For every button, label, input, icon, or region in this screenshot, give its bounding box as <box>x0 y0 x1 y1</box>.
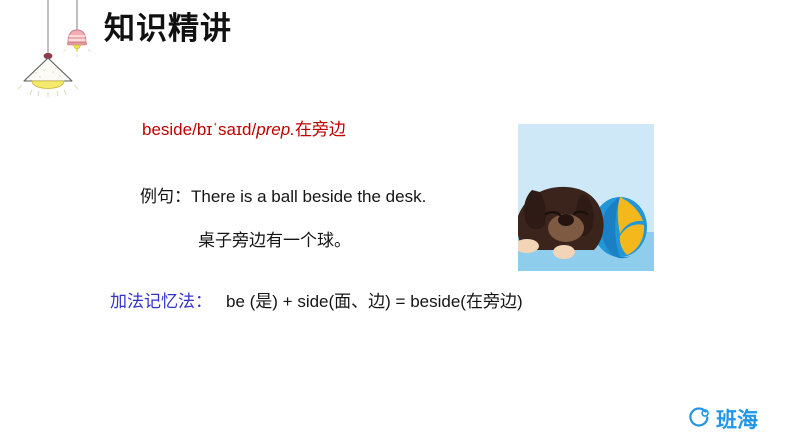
pendant-lamps-decoration <box>8 0 118 100</box>
memory-method-formula: be (是) + side(面、边) = beside(在旁边) <box>226 292 523 311</box>
word-headword: beside <box>142 120 192 139</box>
word-phonetic: /bɪˈsaɪd/ <box>192 120 256 139</box>
pendant-cone-lamp-icon <box>18 53 78 97</box>
example-label: 例句： <box>140 187 191 206</box>
example-sentence-en: 例句：There is a ball beside the desk. <box>140 186 426 208</box>
word-part-of-speech: prep. <box>256 120 295 139</box>
banhai-circle-icon <box>689 407 711 434</box>
dog-icon <box>518 187 604 259</box>
example-english-text: There is a ball beside the desk. <box>191 187 426 206</box>
pendant-bell-lamp-icon <box>64 30 91 57</box>
word-entry: beside/bɪˈsaɪd/prep.在旁边 <box>142 119 346 141</box>
slide-canvas: 知识精讲 beside/bɪˈsaɪd/prep.在旁边 例句：There is… <box>0 0 794 447</box>
page-title: 知识精讲 <box>104 10 232 49</box>
lamps-svg <box>8 0 118 100</box>
banhai-logo: 班海 <box>689 407 758 434</box>
example-sentence-cn: 桌子旁边有一个球。 <box>198 230 351 252</box>
word-meaning: 在旁边 <box>295 120 346 139</box>
memory-method-label: 加法记忆法： <box>110 292 212 311</box>
memory-method-row: 加法记忆法：be (是) + side(面、边) = beside(在旁边) <box>110 291 523 313</box>
logo-icon-svg <box>689 407 711 429</box>
logo-text: 班海 <box>716 410 758 431</box>
illustration-svg <box>518 124 654 271</box>
illustration-dog-beside-ball <box>518 124 654 271</box>
